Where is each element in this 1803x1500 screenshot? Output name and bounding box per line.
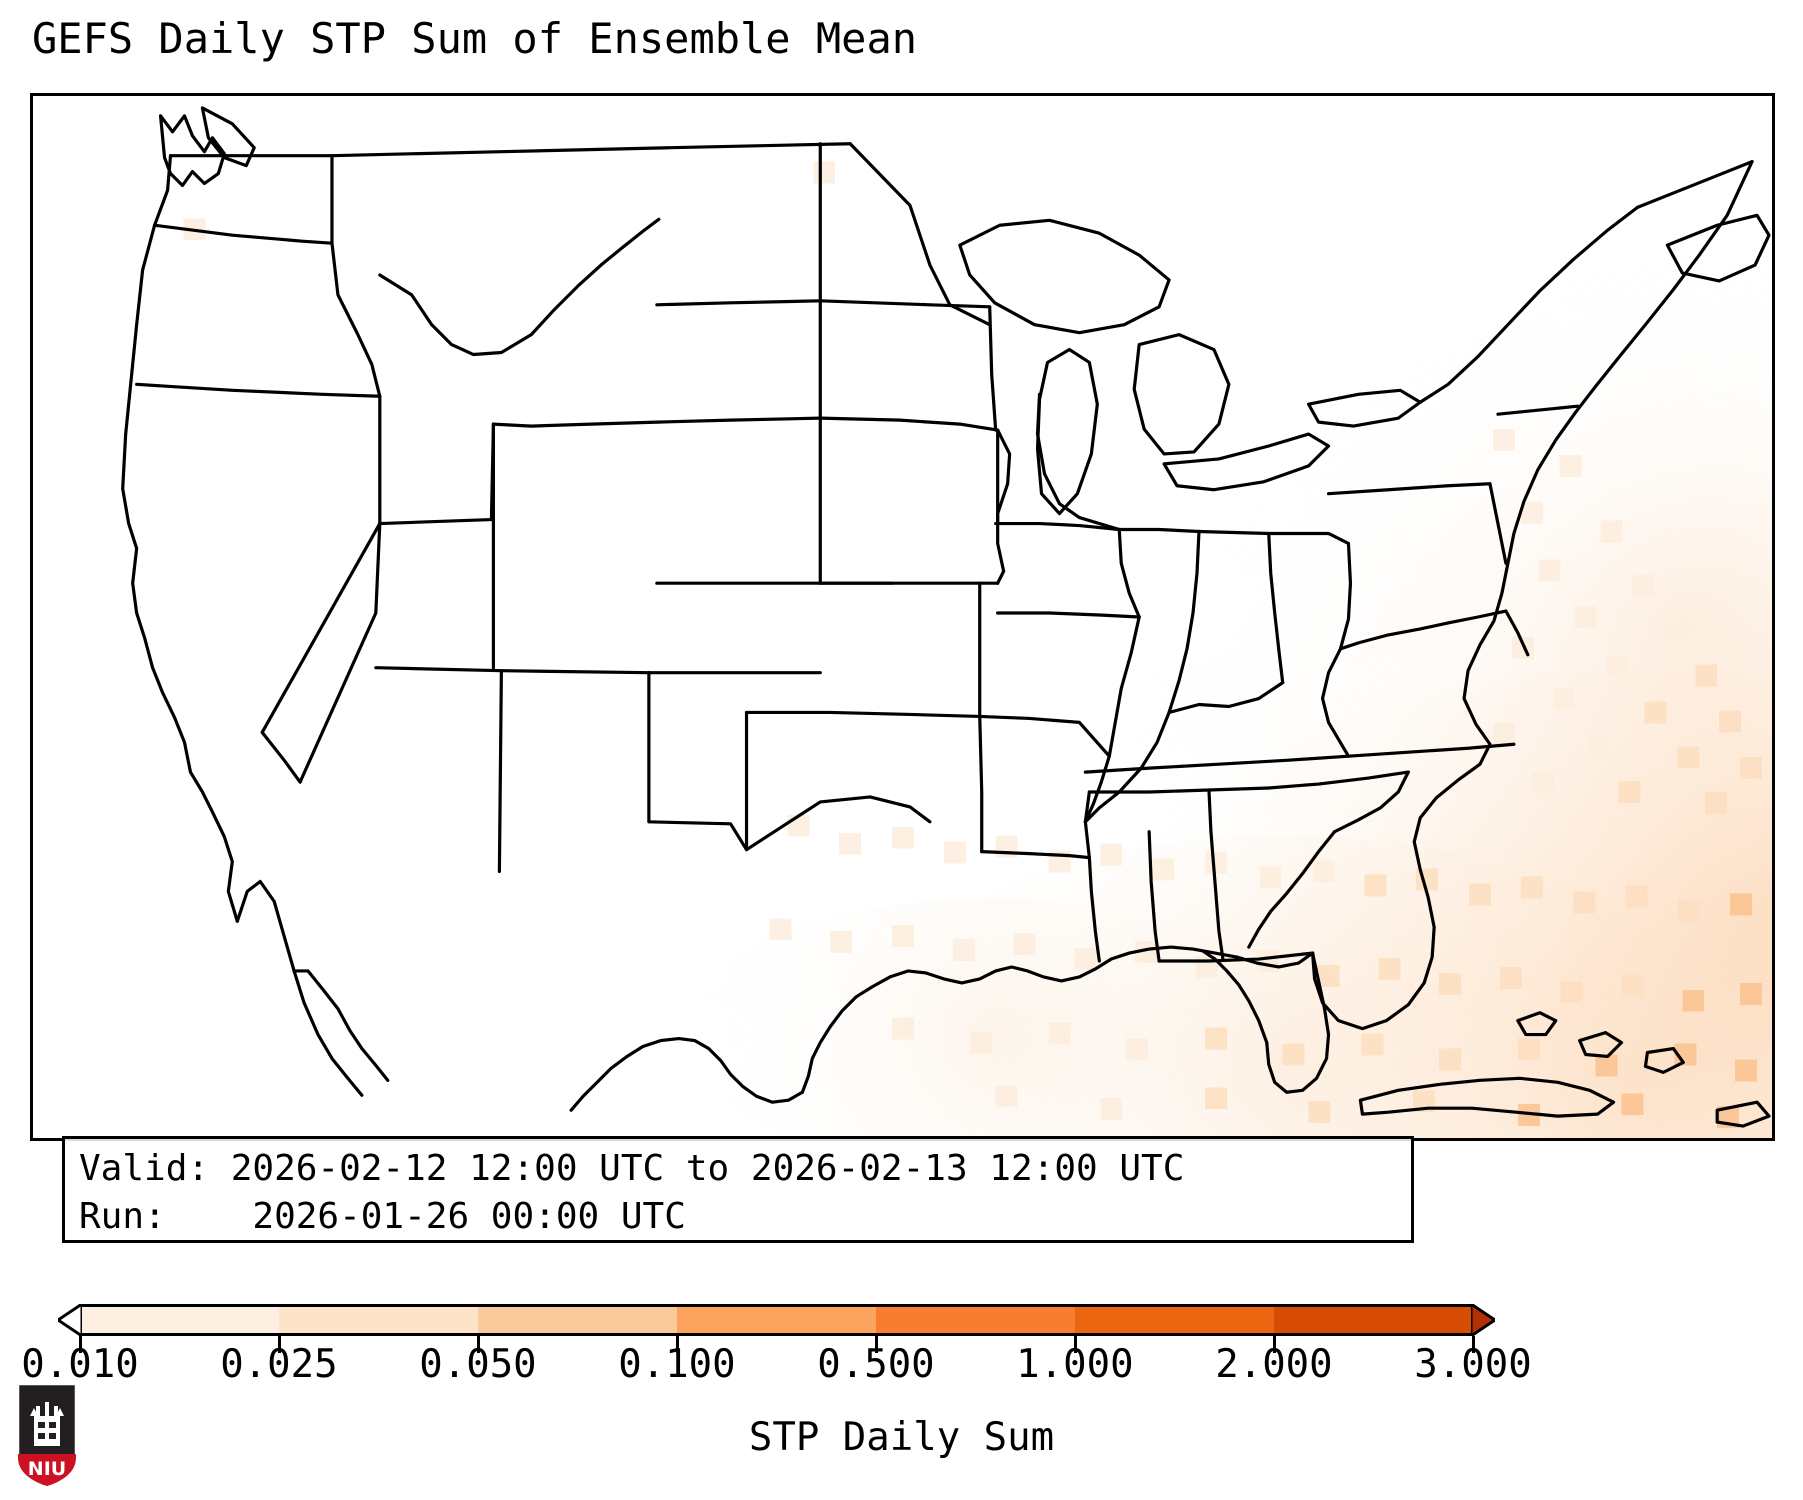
border-or-id: [332, 243, 380, 396]
geography-overlay: [33, 96, 1772, 1138]
border-az-nm: [499, 671, 501, 872]
colorbar-tick-5: [1074, 1336, 1077, 1353]
coastline-gulf-california: [294, 971, 388, 1080]
colorbar-extend-over-arrow: [1471, 1304, 1495, 1336]
border-ar-la: [982, 852, 1090, 858]
coastline-puget-sound: [161, 116, 225, 186]
coastline-atlantic: [1313, 162, 1752, 1029]
border-nv-ut-az: [380, 424, 494, 523]
border-ga-al: [1209, 790, 1223, 959]
border-ut-az-nm: [376, 668, 649, 673]
valid-time-line: Valid: 2026-02-12 12:00 UTC to 2026-02-1…: [79, 1145, 1397, 1193]
map-clip: [33, 96, 1772, 1138]
border-ar-ms: [1085, 822, 1089, 858]
colorbar-band-0: [80, 1304, 279, 1336]
border-pa-ny: [1329, 484, 1490, 494]
border-mt-wy: [657, 301, 820, 305]
island-bahamas-1: [1518, 1013, 1556, 1035]
coastline-gulf: [802, 947, 1312, 1092]
lake-huron: [1134, 335, 1229, 454]
colorbar-tick-0: [79, 1336, 82, 1353]
figure-canvas: GEFS Daily STP Sum of Ensemble Mean: [0, 0, 1803, 1500]
border-va-nc: [1348, 744, 1513, 756]
border-sd-ne: [820, 418, 997, 430]
border-tn-nc: [1269, 772, 1409, 788]
border-sc-ga: [1249, 832, 1335, 947]
coastline-pacific: [123, 156, 238, 922]
border-ca-az: [262, 732, 300, 782]
border-wy-co-ne: [657, 418, 820, 422]
coastline-baja: [237, 881, 362, 1095]
island-hispaniola: [1717, 1102, 1769, 1126]
border-or-ca-nv: [137, 384, 380, 396]
border-id-ut-wy: [493, 422, 656, 426]
colorbar-band-1: [279, 1304, 478, 1336]
border-wv-va: [1323, 649, 1349, 756]
border-ia-il-wi: [1119, 530, 1139, 617]
island-newfoundland: [1667, 215, 1769, 281]
border-mi-in-oh: [1199, 531, 1329, 533]
lake-michigan: [1038, 350, 1098, 514]
border-wi-mn: [1038, 394, 1120, 529]
border-nd-mn: [990, 307, 996, 430]
border-ne-ia: [998, 430, 1010, 583]
border-nv-az: [300, 524, 380, 783]
colorbar-band-6: [1274, 1304, 1473, 1336]
border-nm-tx: [649, 673, 747, 850]
colorbar-tick-6: [1273, 1336, 1276, 1353]
border-ne-states: [1498, 406, 1578, 414]
colorbar-band-3: [677, 1304, 876, 1336]
colorbar-tick-3: [676, 1336, 679, 1353]
colorbar-axis-label: STP Daily Sum: [0, 1415, 1803, 1460]
border-md-de: [1506, 611, 1528, 655]
border-id-mt: [380, 219, 659, 354]
coastline-florida: [1267, 953, 1329, 1092]
border-ny-vt-ma: [1490, 484, 1506, 564]
niu-logo-text: NIU: [28, 1458, 66, 1480]
colorbar-tick-4: [875, 1336, 878, 1353]
border-mo-ar: [980, 716, 1110, 756]
info-box: Valid: 2026-02-12 12:00 UTC to 2026-02-1…: [62, 1136, 1414, 1243]
border-in-ky: [1169, 683, 1283, 713]
colorbar-band-4: [876, 1304, 1075, 1336]
border-la-ms: [1089, 858, 1099, 961]
border-ks-ok: [747, 712, 980, 716]
colorbar-band-5: [1075, 1304, 1274, 1336]
border-ia-mo: [998, 613, 1140, 617]
colorbar-band-2: [478, 1304, 677, 1336]
colorbar-tick-7: [1472, 1336, 1475, 1353]
border-us-canada-lakes: [850, 144, 990, 325]
border-nd-sd: [820, 301, 989, 307]
map-frame[interactable]: [30, 93, 1775, 1141]
border-tn-ky-va: [1085, 756, 1348, 772]
coastline-florida-west: [1203, 951, 1267, 1042]
lake-ontario: [1309, 390, 1421, 426]
border-in-oh: [1269, 533, 1283, 682]
border-ca-nv: [262, 396, 380, 732]
border-us-canada-west: [171, 144, 851, 156]
border-ms-al: [1149, 832, 1159, 961]
coastline-texas-mexico: [571, 1039, 802, 1111]
colorbar[interactable]: [0, 1290, 1803, 1350]
island-bahamas-3: [1645, 1049, 1683, 1073]
page-title: GEFS Daily STP Sum of Ensemble Mean: [32, 14, 917, 63]
niu-logo: NIU: [16, 1380, 78, 1488]
colorbar-tick-2: [477, 1336, 480, 1353]
colorbar-extend-under-arrow: [58, 1304, 82, 1336]
border-wa-or: [155, 225, 332, 243]
colorbar-gradient: [80, 1304, 1473, 1336]
colorbar-tick-1: [278, 1336, 281, 1353]
island-cuba: [1360, 1078, 1613, 1116]
lake-erie: [1164, 434, 1328, 490]
border-ok-tx: [747, 712, 930, 849]
island-bahamas-2: [1580, 1033, 1622, 1057]
border-ok-ar-mo: [980, 716, 982, 851]
border-tn-ms-al-ga: [1089, 788, 1268, 792]
run-time-line: Run: 2026-01-26 00:00 UTC: [79, 1193, 1397, 1241]
border-oh-pa-wv: [1329, 533, 1351, 648]
border-wi-il: [1119, 530, 1199, 532]
